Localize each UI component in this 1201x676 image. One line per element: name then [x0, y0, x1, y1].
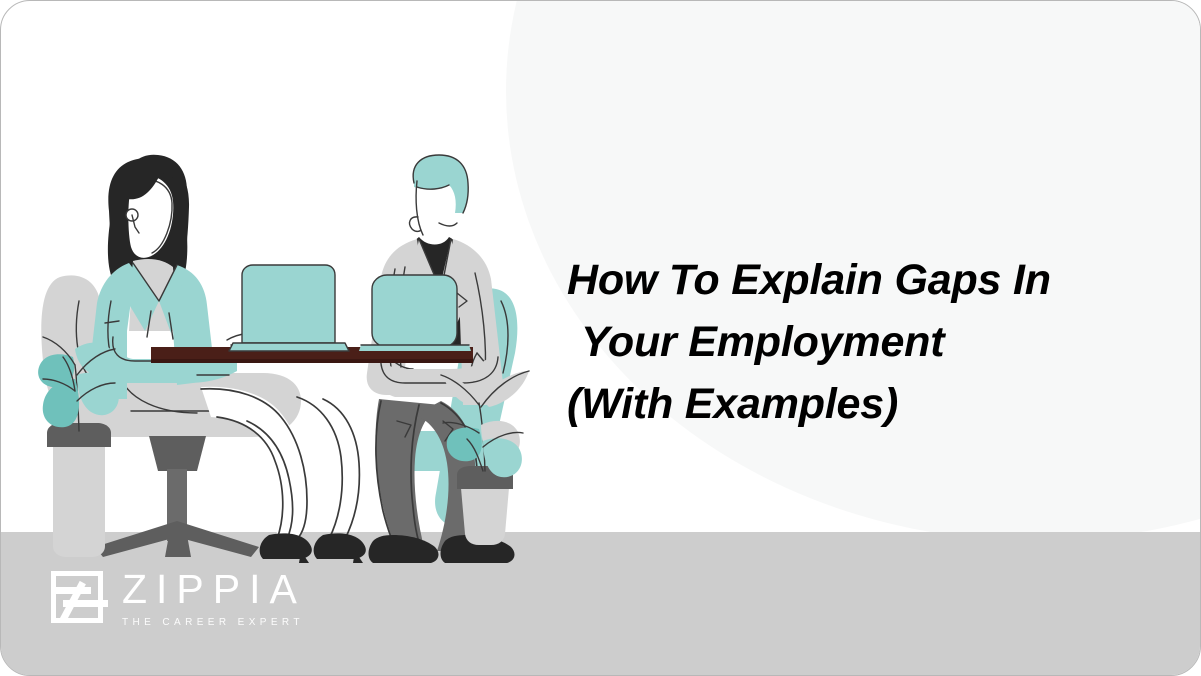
- title-line-3: (With Examples): [567, 373, 1127, 435]
- title-line-1: How To Explain Gaps In: [567, 249, 1127, 311]
- laptop-right: [359, 275, 471, 351]
- logo-text-block: ZIPPIA THE CAREER EXPERT: [122, 569, 306, 628]
- banner-card: .o { fill:none; stroke:#3a3a3a; stroke-w…: [0, 0, 1201, 676]
- logo-wordmark: ZIPPIA: [122, 569, 306, 610]
- laptop-left: [229, 265, 349, 351]
- zippia-z-monogram-icon: [51, 571, 103, 623]
- logo-tagline: THE CAREER EXPERT: [122, 617, 306, 628]
- zippia-logo[interactable]: ZIPPIA THE CAREER EXPERT: [51, 571, 306, 628]
- title-line-2: Your Employment: [567, 311, 1127, 373]
- page-title: How To Explain Gaps In Your Employment (…: [567, 249, 1127, 435]
